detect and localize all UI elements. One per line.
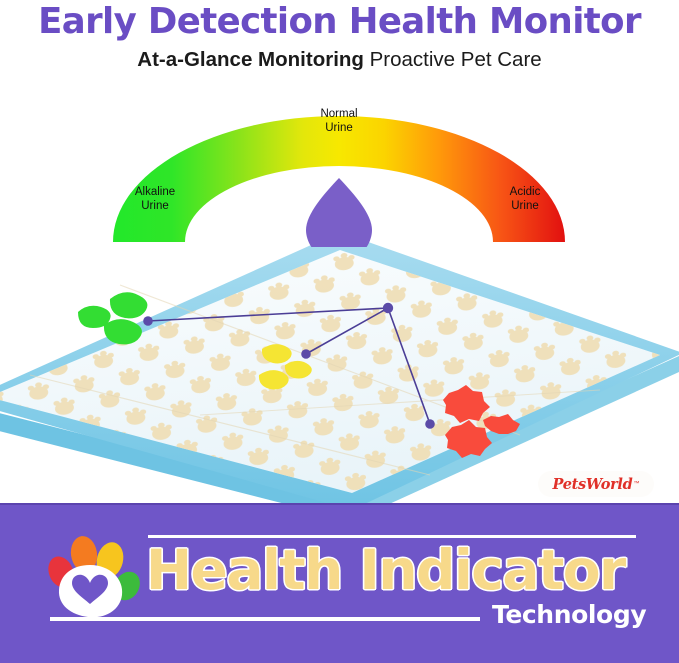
subtitle: At-a-Glance Monitoring Proactive Pet Car… bbox=[0, 48, 679, 72]
page-title: Early Detection Health Monitor bbox=[0, 1, 679, 42]
header-section: Early Detection Health Monitor At-a-Glan… bbox=[0, 0, 679, 92]
subtitle-strong: At-a-Glance Monitoring bbox=[137, 48, 364, 71]
alkaline-node bbox=[143, 316, 153, 326]
gauge-label-acidic: Acidic Urine bbox=[488, 186, 562, 213]
pad-graphic bbox=[0, 225, 679, 510]
petsworld-logo-badge: PetsWorld™ bbox=[538, 471, 654, 497]
brand-title: Health Indicator bbox=[146, 538, 644, 602]
petsworld-brand-text: PetsWorld bbox=[553, 476, 633, 493]
pet-pad-illustration: PetsWorld™ bbox=[0, 225, 679, 510]
urine-droplet-icon bbox=[306, 178, 372, 247]
brand-text-block: Health Indicator Technology bbox=[146, 521, 646, 651]
pad-pattern bbox=[0, 250, 660, 493]
alkaline-stain-marker bbox=[78, 292, 147, 344]
normal-node bbox=[301, 349, 311, 359]
gauge-label-normal: Normal Urine bbox=[302, 108, 376, 135]
ph-gauge: Alkaline Urine Normal Urine Acidic Urine bbox=[0, 92, 679, 247]
divider-bottom bbox=[50, 617, 480, 621]
brand-subtitle: Technology bbox=[492, 600, 646, 629]
connector-hub bbox=[383, 303, 393, 313]
health-indicator-banner: Health Indicator Technology bbox=[0, 503, 679, 663]
acidic-node bbox=[425, 419, 435, 429]
trademark-icon: ™ bbox=[633, 481, 639, 487]
paw-print-heart-icon bbox=[46, 527, 142, 623]
subtitle-light: Proactive Pet Care bbox=[364, 48, 542, 71]
gauge-label-alkaline: Alkaline Urine bbox=[118, 186, 192, 213]
